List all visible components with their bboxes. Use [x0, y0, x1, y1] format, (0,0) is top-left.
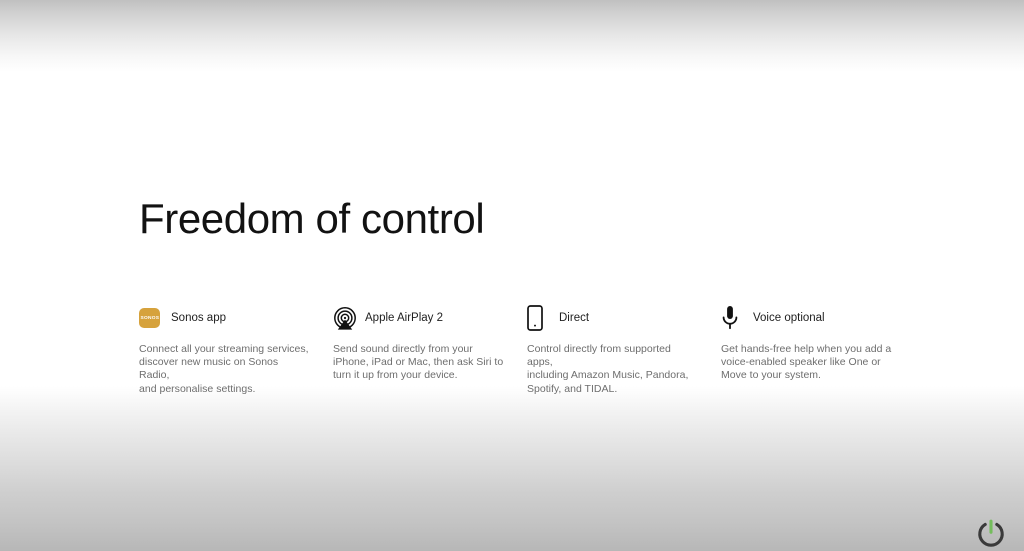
feature-card-direct: Direct Control directly from supported a…	[527, 303, 721, 396]
sonos-badge-label: SONOS	[140, 315, 159, 321]
feature-description: Control directly from supported apps, in…	[527, 343, 699, 396]
feature-description-line: voice-enabled speaker like One or	[721, 356, 893, 369]
feature-description-line: and personalise settings.	[139, 383, 311, 396]
feature-description: Connect all your streaming services, dis…	[139, 343, 311, 396]
feature-description-line: Connect all your streaming services,	[139, 343, 311, 356]
feature-description-line: iPhone, iPad or Mac, then ask Siri to	[333, 356, 505, 369]
feature-description: Get hands-free help when you add a voice…	[721, 343, 893, 383]
feature-title: Apple AirPlay 2	[365, 311, 443, 325]
feature-columns: SONOS Sonos app Connect all your streami…	[139, 303, 929, 396]
feature-card-voice-optional: Voice optional Get hands-free help when …	[721, 303, 915, 396]
feature-header: Apple AirPlay 2	[333, 303, 505, 333]
airplay-icon-glyph	[333, 306, 357, 330]
feature-description-line: Send sound directly from your	[333, 343, 505, 356]
feature-description-line: Move to your system.	[721, 369, 893, 382]
feature-description-line: including Amazon Music, Pandora,	[527, 369, 699, 382]
feature-card-apple-airplay-2: Apple AirPlay 2 Send sound directly from…	[333, 303, 527, 396]
feature-description: Send sound directly from your iPhone, iP…	[333, 343, 505, 383]
feature-description-line: discover new music on Sonos Radio,	[139, 356, 311, 382]
feature-description-line: turn it up from your device.	[333, 369, 505, 382]
sonos-badge: SONOS	[139, 308, 160, 328]
microphone-icon-glyph	[721, 305, 739, 331]
phone-icon	[527, 304, 553, 332]
feature-header: Voice optional	[721, 303, 893, 333]
power-icon	[975, 517, 1007, 549]
page-title: Freedom of control	[139, 193, 484, 245]
page-canvas: Freedom of control SONOS Sonos app Conne…	[0, 0, 1024, 551]
feature-header: Direct	[527, 303, 699, 333]
sonos-app-icon: SONOS	[139, 304, 165, 332]
top-gradient-overlay	[0, 0, 1024, 72]
feature-description-line: Control directly from supported apps,	[527, 343, 699, 369]
feature-description-line: Spotify, and TIDAL.	[527, 383, 699, 396]
feature-title: Sonos app	[171, 311, 226, 325]
feature-card-sonos-app: SONOS Sonos app Connect all your streami…	[139, 303, 333, 396]
phone-icon-glyph	[527, 305, 543, 331]
feature-header: SONOS Sonos app	[139, 303, 311, 333]
bottom-gradient-overlay	[0, 386, 1024, 551]
feature-description-line: Get hands-free help when you add a	[721, 343, 893, 356]
microphone-icon	[721, 304, 747, 332]
airplay-icon	[333, 304, 359, 332]
power-button[interactable]	[975, 517, 1007, 549]
feature-title: Direct	[559, 311, 589, 325]
feature-title: Voice optional	[753, 311, 825, 325]
